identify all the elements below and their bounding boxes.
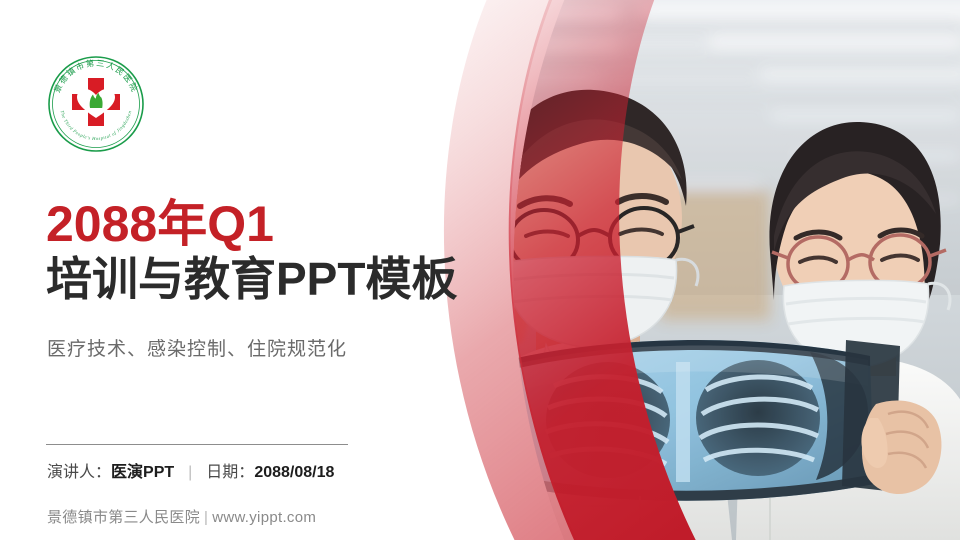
- presentation-slide: 景德镇市第三人民医院 The Third People's Hospital o…: [0, 0, 960, 540]
- presenter-meta: 演讲人：医演PPT|日期：2088/08/18: [47, 458, 334, 482]
- page-title-main: 培训与教育PPT模板: [46, 253, 516, 305]
- footer-organization: 景德镇市第三人民医院: [47, 509, 200, 526]
- hospital-logo-mark: 景德镇市第三人民医院 The Third People's Hospital o…: [44, 52, 148, 156]
- footer-website: www.yippt.com: [212, 509, 316, 526]
- speaker-label: 演讲人：: [47, 464, 111, 481]
- subtitle: 医疗技术、感染控制、住院规范化: [47, 334, 347, 361]
- date-value: 2088/08/18: [254, 464, 334, 481]
- footer-divider: |: [200, 509, 212, 526]
- footer: 景德镇市第三人民医院|www.yippt.com: [47, 506, 316, 527]
- page-title-year: 2088年Q1: [46, 198, 516, 251]
- divider-line: [46, 444, 348, 445]
- date-label: 日期：: [206, 464, 254, 481]
- speaker-value: 医演PPT: [111, 464, 174, 481]
- meta-separator: |: [174, 464, 206, 481]
- hospital-logo: 景德镇市第三人民医院 The Third People's Hospital o…: [44, 52, 148, 156]
- title-block: 2088年Q1 培训与教育PPT模板: [46, 198, 516, 305]
